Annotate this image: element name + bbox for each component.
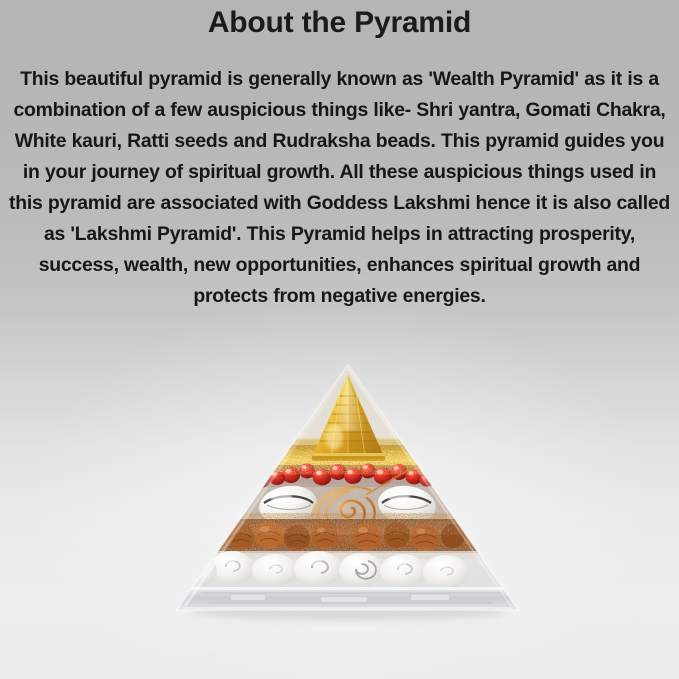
- article-text-block: About the Pyramid This beautiful pyramid…: [0, 0, 679, 312]
- pyramid-body: [171, 361, 525, 611]
- ratti-seeds-layer: [171, 461, 525, 488]
- page-title: About the Pyramid: [6, 0, 673, 42]
- about-paragraph: This beautiful pyramid is generally know…: [6, 42, 673, 312]
- product-image-pyramid: [171, 361, 525, 617]
- gomati-chakra-layer: [171, 549, 525, 589]
- page-root: About the Pyramid This beautiful pyramid…: [0, 0, 679, 679]
- pyramid-illustration: [171, 361, 525, 617]
